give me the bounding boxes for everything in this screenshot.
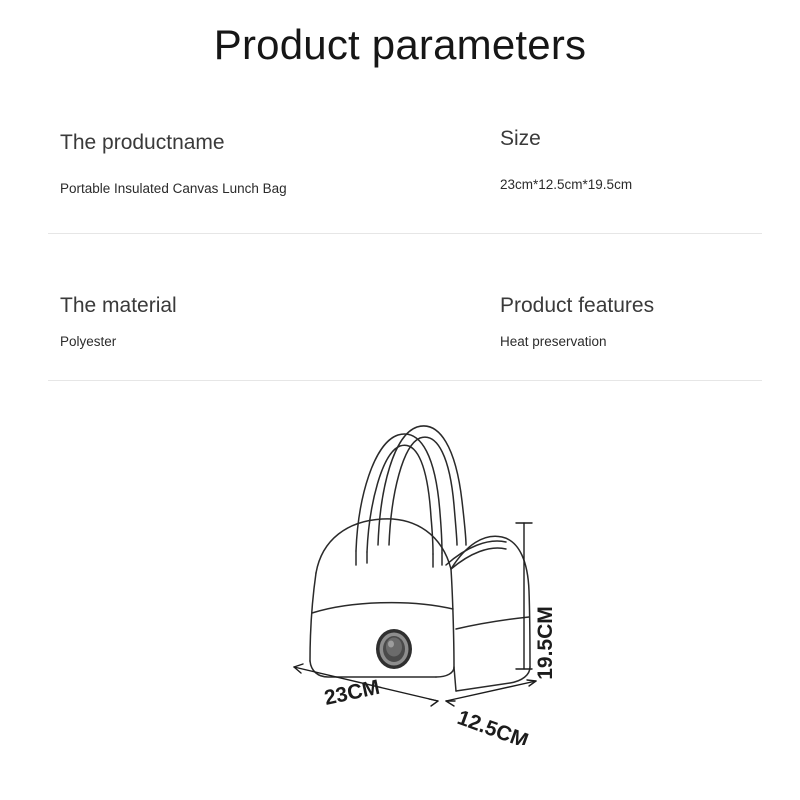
product-illustration: 23CM 12.5CM 19.5CM xyxy=(270,405,570,745)
bag-gusset-corner xyxy=(454,667,456,691)
dimension-label-height: 19.5CM xyxy=(534,606,557,680)
bag-handle-tab-right xyxy=(433,553,442,567)
spec-cell-size: Size 23cm*12.5cm*19.5cm xyxy=(500,130,780,194)
bag-front-left-edge xyxy=(310,573,316,661)
bag-front-seam xyxy=(312,603,453,613)
spec-value: Heat preservation xyxy=(500,333,780,351)
bag-gusset-top xyxy=(451,536,530,667)
spec-label: Size xyxy=(500,126,780,152)
spec-value: 23cm*12.5cm*19.5cm xyxy=(500,176,780,194)
spec-cell-features: Product features Heat preservation xyxy=(500,293,780,351)
bag-handle-front xyxy=(356,434,442,554)
bag-line-drawing: 23CM 12.5CM 19.5CM xyxy=(270,405,570,745)
dimension-label-depth: 12.5CM xyxy=(454,706,531,745)
spec-label: Product features xyxy=(500,293,780,319)
page-title: Product parameters xyxy=(0,20,800,70)
bag-handle-tab-left xyxy=(356,551,367,565)
product-parameters-page: Product parameters The productname Porta… xyxy=(0,0,800,800)
bag-dome-front xyxy=(316,519,451,573)
divider xyxy=(48,233,762,234)
bag-logo-badge xyxy=(376,629,412,669)
dimension-label-width: 23CM xyxy=(322,676,382,710)
dimension-arrow-depth-start xyxy=(446,701,455,706)
spec-label: The material xyxy=(60,293,480,319)
dimension-arrow-width-end xyxy=(429,699,438,706)
divider xyxy=(48,380,762,381)
bag-gusset-bottom xyxy=(456,667,530,691)
spec-label: The productname xyxy=(60,130,480,156)
spec-value: Portable Insulated Canvas Lunch Bag xyxy=(60,180,480,198)
bag-front-right-edge xyxy=(436,569,454,677)
spec-cell-productname: The productname Portable Insulated Canva… xyxy=(60,130,480,198)
bag-gusset-seam xyxy=(456,617,529,629)
spec-cell-material: The material Polyester xyxy=(60,293,480,351)
spec-value: Polyester xyxy=(60,333,480,351)
